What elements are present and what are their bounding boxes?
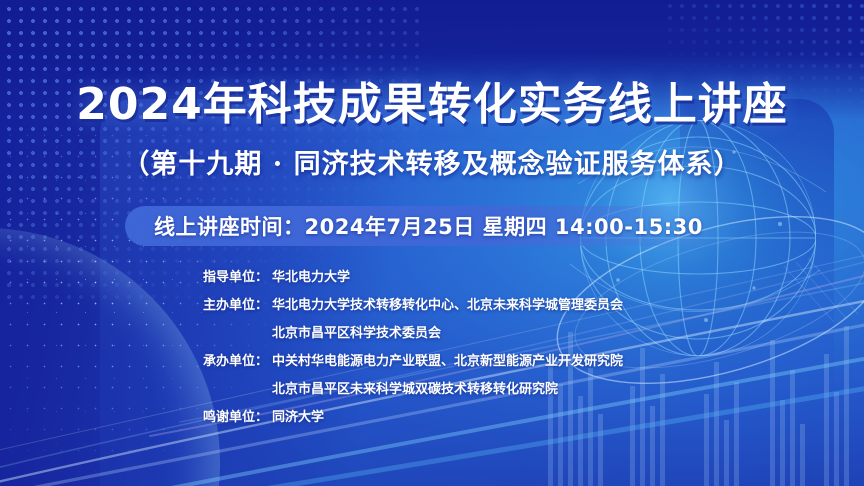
org-label: 鸣谢单位： — [0, 406, 268, 425]
list-item: 北京市昌平区科学技术委员会 — [0, 322, 864, 350]
poster-subtitle: （第十九期 · 同济技术转移及概念验证服务体系） — [0, 142, 864, 181]
org-value: 北京市昌平区未来科学城双碳技术转移转化研究院 — [268, 378, 558, 397]
date-time-text: 线上讲座时间：2024年7月25日 星期四 14:00-15:30 — [125, 211, 703, 241]
list-item: 指导单位： 华北电力大学 — [0, 266, 864, 294]
org-value: 华北电力大学技术转移转化中心、北京未来科学城管理委员会 — [268, 294, 623, 313]
organization-list: 指导单位： 华北电力大学 主办单位： 华北电力大学技术转移转化中心、北京未来科学… — [0, 266, 864, 434]
org-label: 指导单位： — [0, 266, 268, 285]
poster-title: 2024年科技成果转化实务线上讲座 — [0, 68, 864, 132]
org-value: 同济大学 — [268, 406, 324, 425]
list-item: 承办单位： 中关村华电能源电力产业联盟、北京新型能源产业开发研究院 — [0, 350, 864, 378]
list-item: 鸣谢单位： 同济大学 — [0, 406, 864, 434]
org-label: 主办单位： — [0, 294, 268, 313]
list-item: 北京市昌平区未来科学城双碳技术转移转化研究院 — [0, 378, 864, 406]
org-label: 承办单位： — [0, 350, 268, 369]
date-time-pill: 线上讲座时间：2024年7月25日 星期四 14:00-15:30 — [125, 206, 750, 246]
org-value: 华北电力大学 — [268, 266, 350, 285]
poster-banner: 2024年科技成果转化实务线上讲座 （第十九期 · 同济技术转移及概念验证服务体… — [0, 0, 864, 486]
org-value: 中关村华电能源电力产业联盟、北京新型能源产业开发研究院 — [268, 350, 623, 369]
org-value: 北京市昌平区科学技术委员会 — [268, 322, 441, 341]
list-item: 主办单位： 华北电力大学技术转移转化中心、北京未来科学城管理委员会 — [0, 294, 864, 322]
